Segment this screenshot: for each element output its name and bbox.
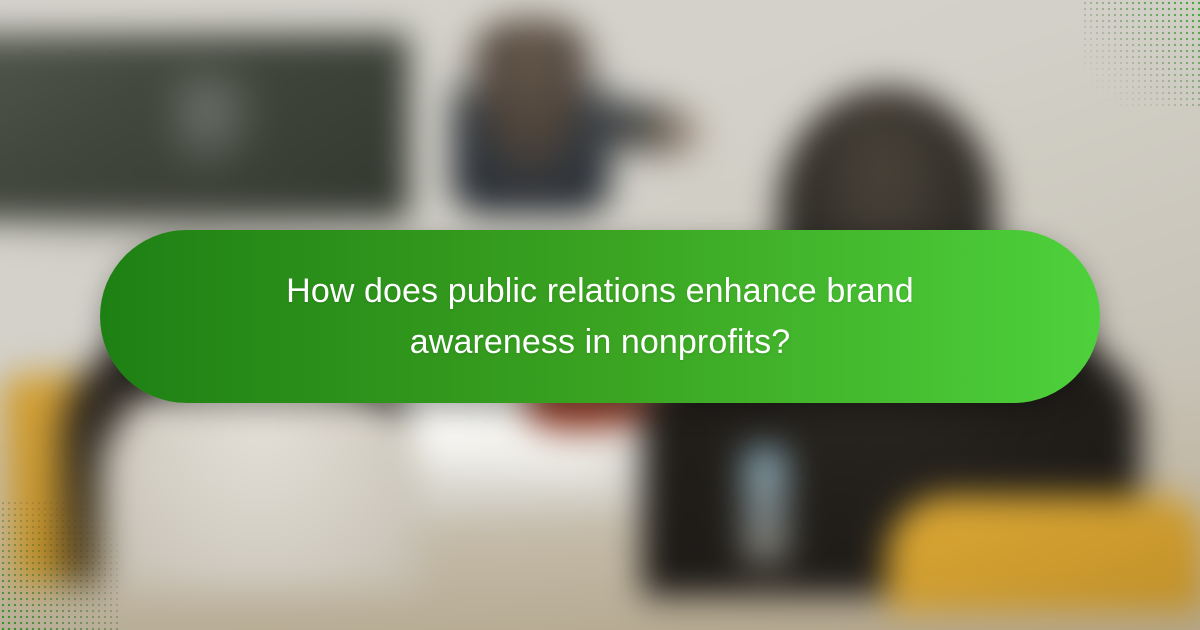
- yellow-chair-right: [886, 495, 1200, 612]
- question-card: How does public relations enhance brand …: [0, 0, 1200, 630]
- wall-screen: [0, 34, 409, 219]
- headline-pill: How does public relations enhance brand …: [100, 230, 1100, 403]
- water-bottle: [743, 448, 788, 565]
- seated-person-left: [452, 18, 611, 214]
- page-title: How does public relations enhance brand …: [240, 266, 960, 367]
